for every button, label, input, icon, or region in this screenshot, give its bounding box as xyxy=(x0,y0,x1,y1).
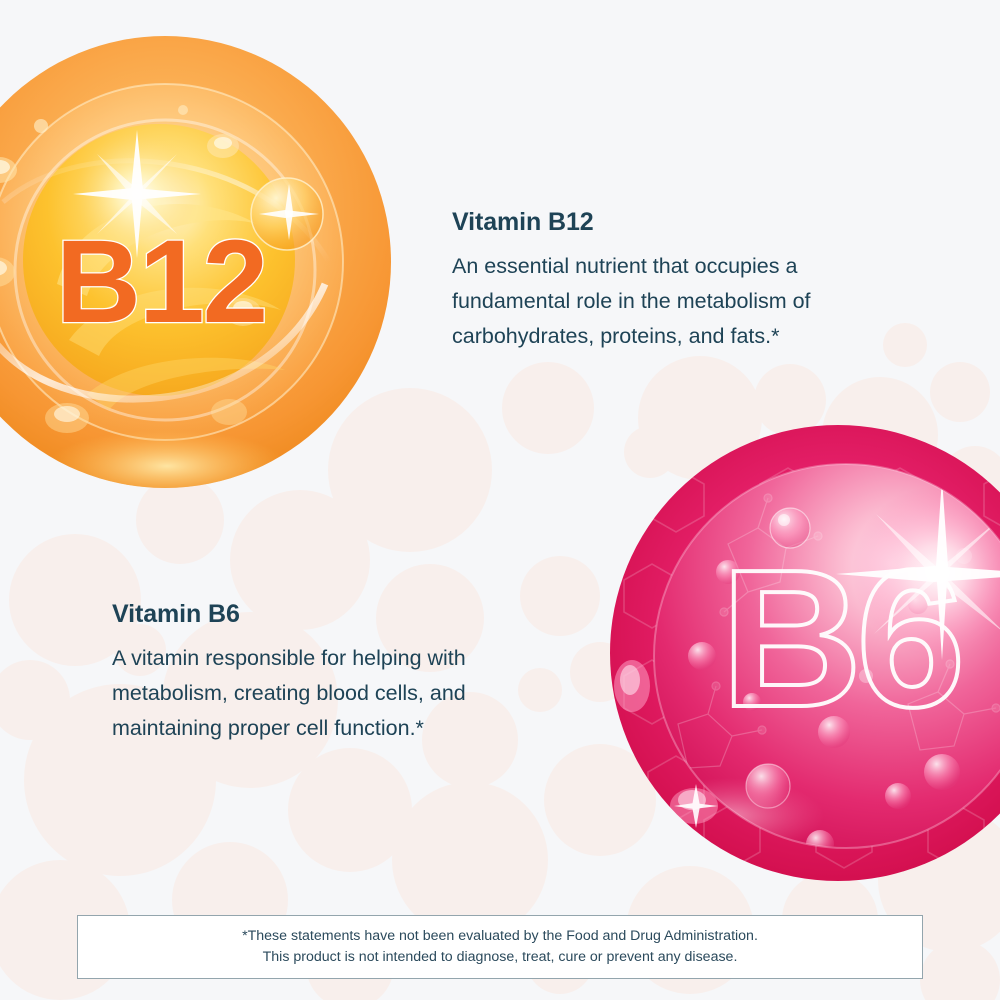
b6-sphere-label: B6 xyxy=(721,529,960,748)
description-line: metabolism, creating blood cells, and xyxy=(112,676,532,711)
vitamin-b6-description: A vitamin responsible for helping with m… xyxy=(112,641,532,745)
description-line: carbohydrates, proteins, and fats.* xyxy=(452,319,882,354)
disclaimer-line-2: This product is not intended to diagnose… xyxy=(263,947,738,968)
description-line: An essential nutrient that occupies a xyxy=(452,249,882,284)
b12-sphere-label: B12 xyxy=(56,216,266,348)
fda-disclaimer-box: *These statements have not been evaluate… xyxy=(77,915,923,979)
vitamin-b12-info-block: Vitamin B12 An essential nutrient that o… xyxy=(452,208,882,353)
description-line: A vitamin responsible for helping with xyxy=(112,641,532,676)
vitamin-b6-title: Vitamin B6 xyxy=(112,600,532,629)
vitamin-b12-sphere: B12 xyxy=(0,34,393,490)
b12-sphere-graphic: B12 xyxy=(0,34,393,490)
vitamin-b12-description: An essential nutrient that occupies a fu… xyxy=(452,249,882,353)
vitamin-b12-title: Vitamin B12 xyxy=(452,208,882,237)
disclaimer-line-1: *These statements have not been evaluate… xyxy=(242,926,758,947)
b6-sphere-graphic: B6 xyxy=(608,424,1000,882)
description-line: fundamental role in the metabolism of xyxy=(452,284,882,319)
vitamin-b6-info-block: Vitamin B6 A vitamin responsible for hel… xyxy=(112,600,532,745)
vitamin-b6-sphere: B6 xyxy=(608,424,1000,882)
description-line: maintaining proper cell function.* xyxy=(112,711,532,746)
